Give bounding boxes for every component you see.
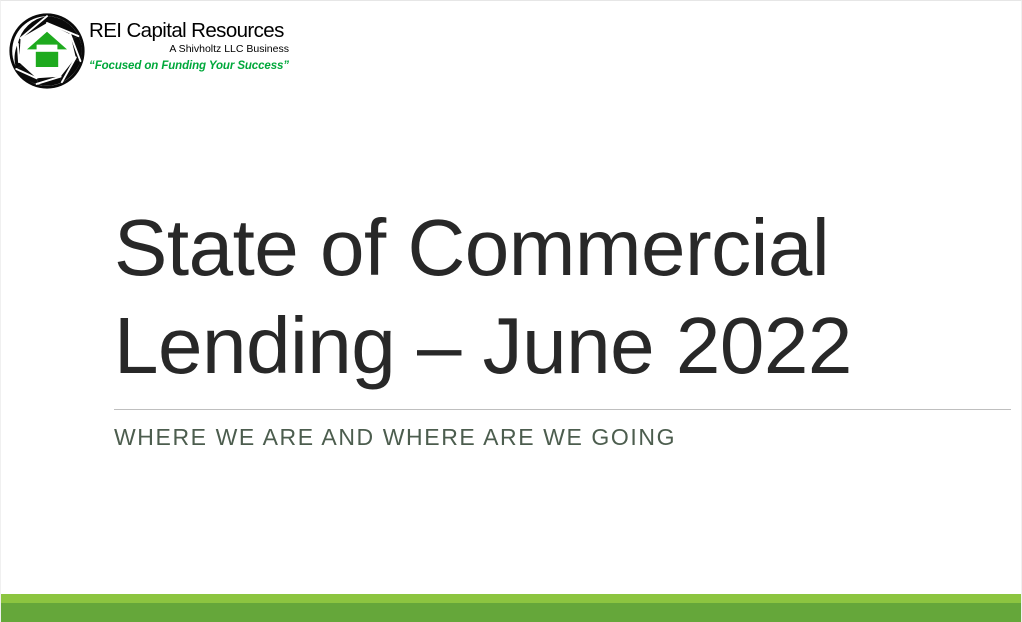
title-area: State of Commercial Lending – June 2022 — [114, 199, 1014, 396]
title-divider — [114, 409, 1011, 410]
company-name: REI Capital Resources — [89, 20, 289, 42]
title-slide: REI Capital Resources A Shivholtz LLC Bu… — [0, 0, 1022, 622]
brand-tagline: “Focused on Funding Your Success” — [89, 60, 289, 72]
brand-wordmark: REI Capital Resources A Shivholtz LLC Bu… — [89, 20, 289, 72]
business-line: A Shivholtz LLC Business — [89, 43, 289, 56]
footer-accent-bar-light — [1, 594, 1022, 603]
aperture-house-logo-icon — [7, 11, 87, 91]
slide-title: State of Commercial Lending – June 2022 — [114, 199, 1014, 396]
brand-logo: REI Capital Resources A Shivholtz LLC Bu… — [3, 5, 293, 91]
slide-subtitle: WHERE WE ARE AND WHERE ARE WE GOING — [114, 424, 676, 451]
footer-accent-bar-dark — [1, 603, 1022, 622]
